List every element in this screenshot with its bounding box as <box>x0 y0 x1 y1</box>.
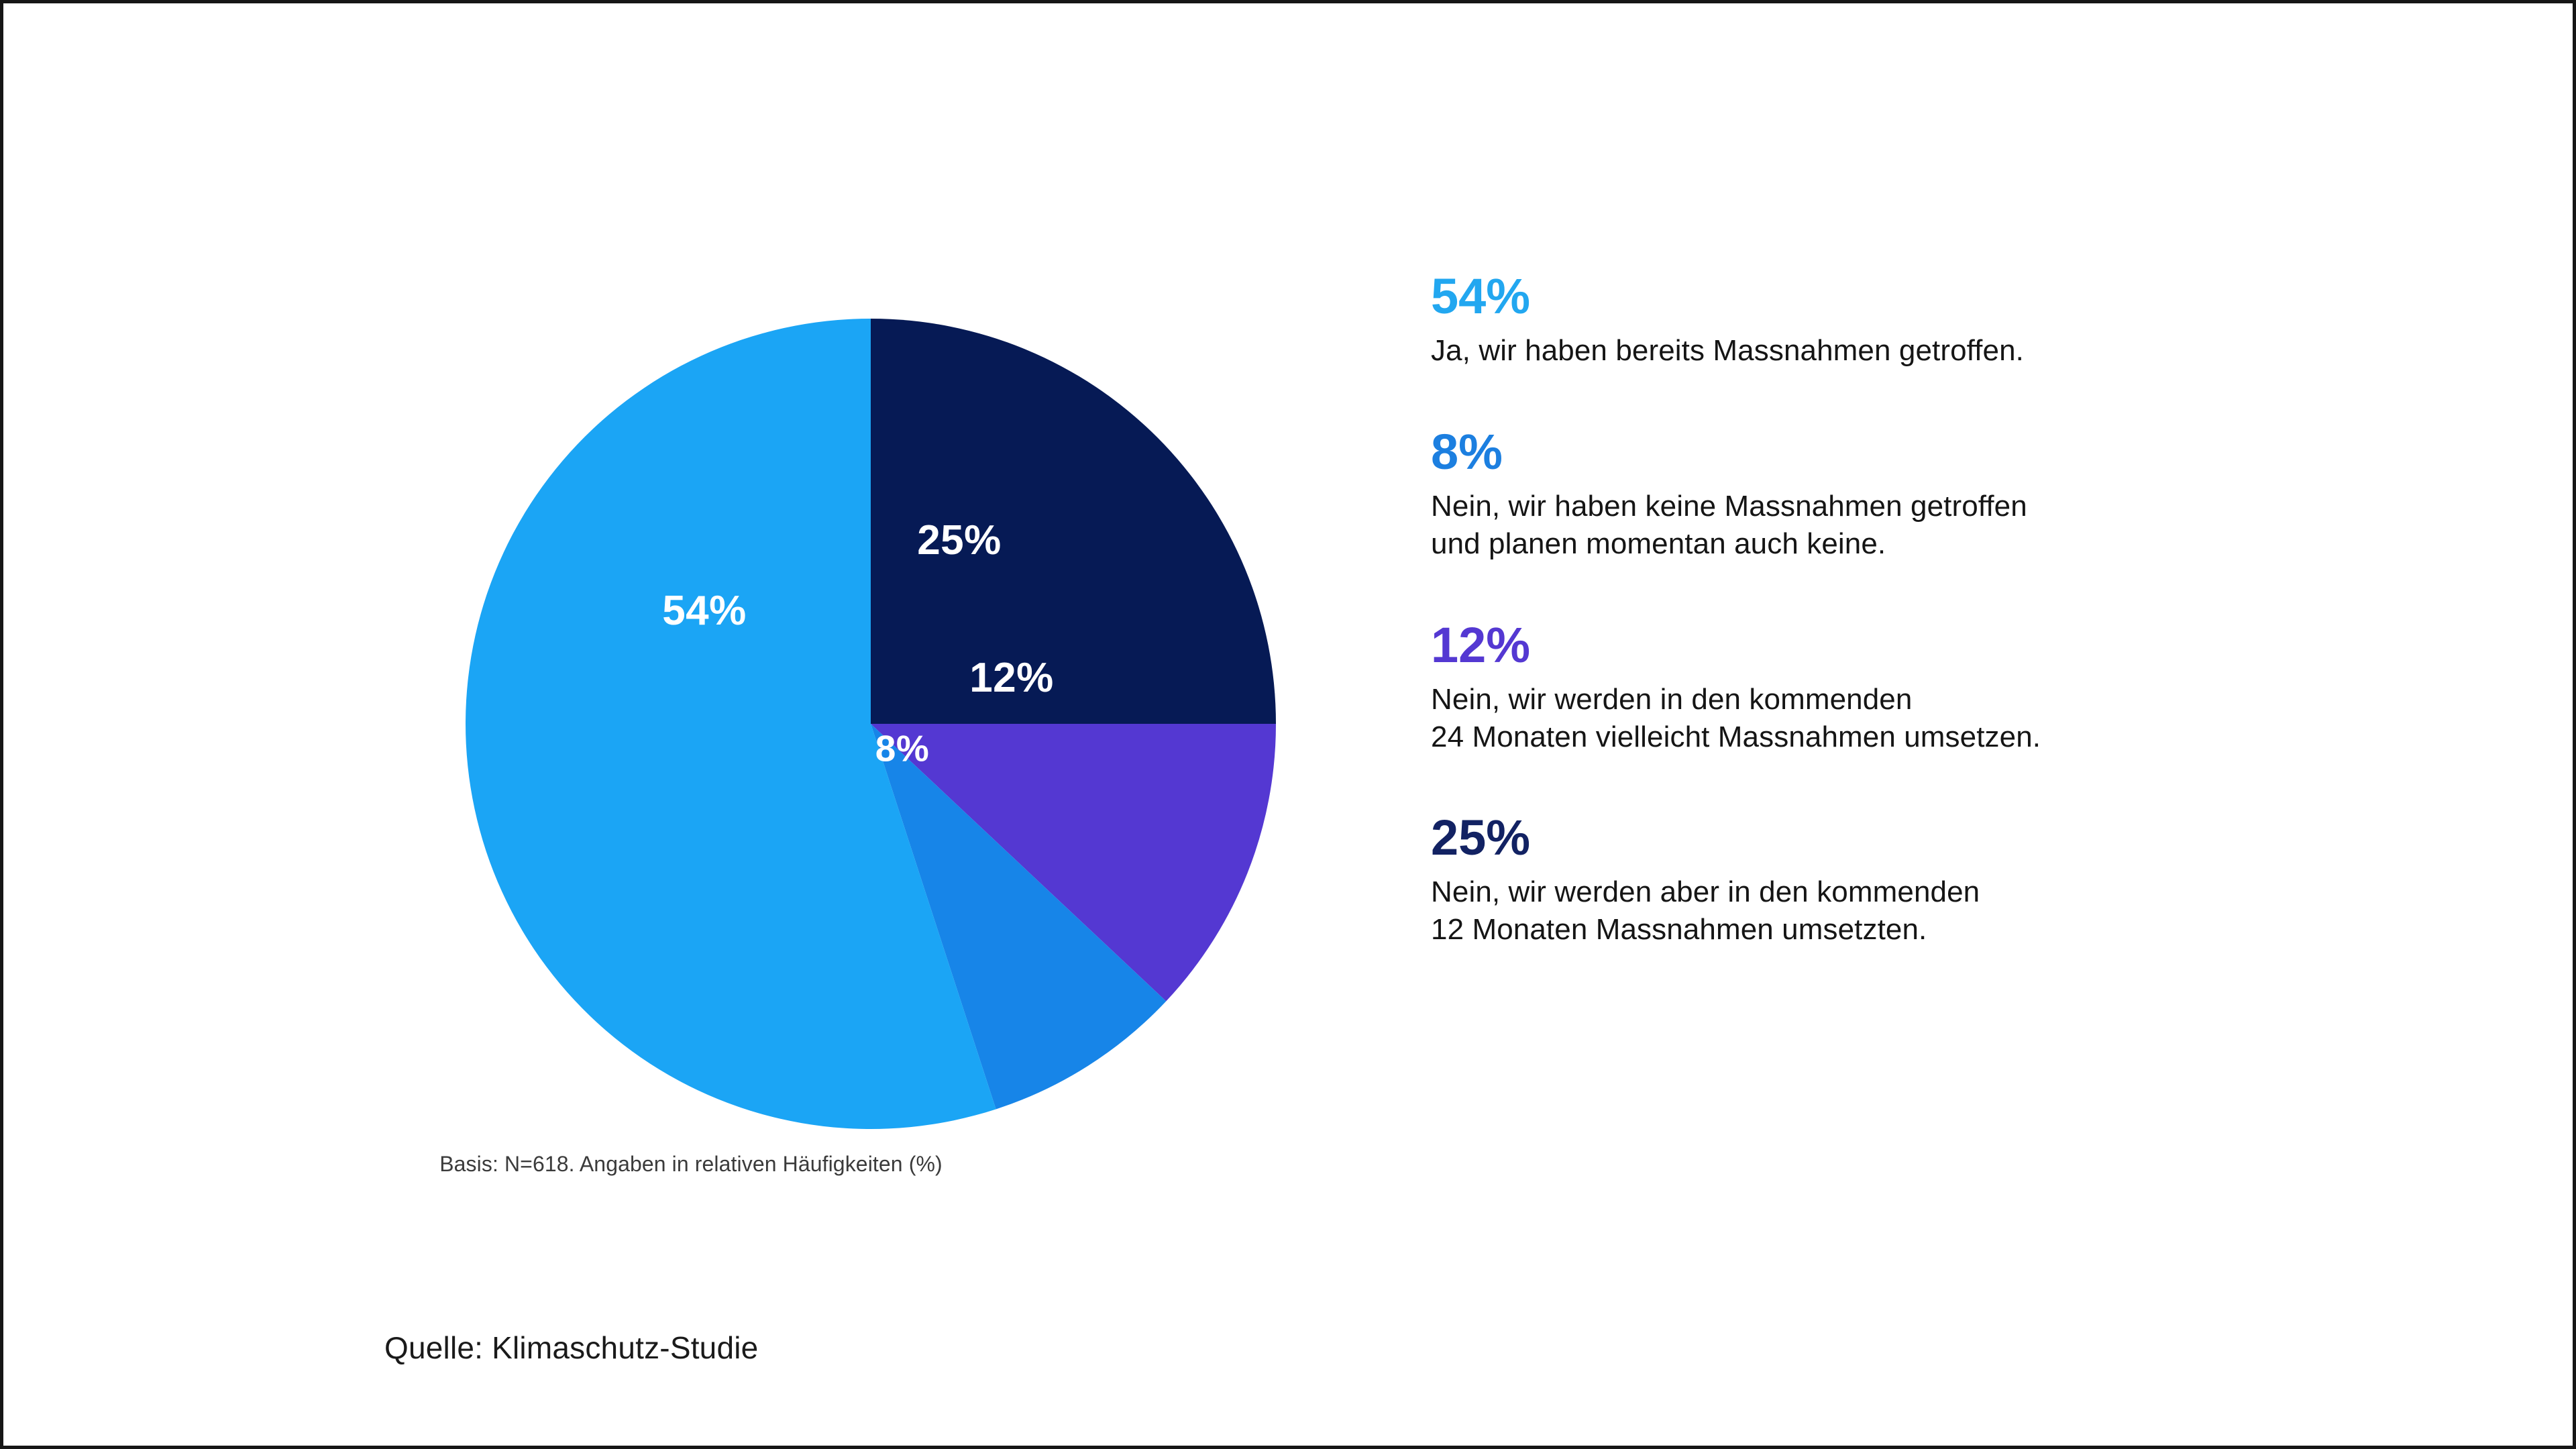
pie-slice-label-ja-getroffen: 54% <box>662 590 747 632</box>
legend-percent: 54% <box>1431 272 2383 321</box>
pie-slice-label-nein-keine-plaene: 8% <box>875 731 930 767</box>
legend-description: Nein, wir haben keine Massnahmen getroff… <box>1431 488 2383 563</box>
legend-percent: 25% <box>1431 813 2383 863</box>
legend-description-line: Ja, wir haben bereits Massnahmen getroff… <box>1431 332 2383 370</box>
pie-slice-label-nein-12-monate: 25% <box>917 520 1002 561</box>
legend-description: Ja, wir haben bereits Massnahmen getroff… <box>1431 332 2383 370</box>
legend-percent: 12% <box>1431 621 2383 670</box>
slide-canvas: 25%12%8%54% Basis: N=618. Angaben in rel… <box>0 0 2576 1449</box>
legend-item[interactable]: 12%Nein, wir werden in den kommenden24 M… <box>1431 621 2383 756</box>
pie-chart-area: 25%12%8%54% Basis: N=618. Angaben in rel… <box>3 3 1379 1449</box>
legend-percent: 8% <box>1431 427 2383 477</box>
legend-description-line: 24 Monaten vielleicht Massnahmen umsetze… <box>1431 718 2383 756</box>
pie-chart: 25%12%8%54% <box>463 316 1279 1132</box>
legend-item[interactable]: 8%Nein, wir haben keine Massnahmen getro… <box>1431 427 2383 563</box>
legend-description-line: Nein, wir werden aber in den kommenden <box>1431 873 2383 911</box>
pie-slice-label-nein-24-monate: 12% <box>969 657 1054 699</box>
legend-item[interactable]: 54%Ja, wir haben bereits Massnahmen getr… <box>1431 272 2383 370</box>
pie-svg <box>463 316 1279 1132</box>
legend-description-line: und planen momentan auch keine. <box>1431 525 2383 563</box>
pie-basis-note: Basis: N=618. Angaben in relativen Häufi… <box>3 1152 1379 1177</box>
legend-description-line: Nein, wir werden in den kommenden <box>1431 681 2383 718</box>
legend-description-line: Nein, wir haben keine Massnahmen getroff… <box>1431 488 2383 525</box>
source-label: Quelle: Klimaschutz-Studie <box>384 1330 758 1366</box>
legend: 54%Ja, wir haben bereits Massnahmen getr… <box>1431 272 2383 949</box>
legend-description: Nein, wir werden in den kommenden24 Mona… <box>1431 681 2383 756</box>
legend-description: Nein, wir werden aber in den kommenden12… <box>1431 873 2383 949</box>
legend-item[interactable]: 25%Nein, wir werden aber in den kommende… <box>1431 813 2383 949</box>
legend-description-line: 12 Monaten Massnahmen umsetzten. <box>1431 911 2383 949</box>
